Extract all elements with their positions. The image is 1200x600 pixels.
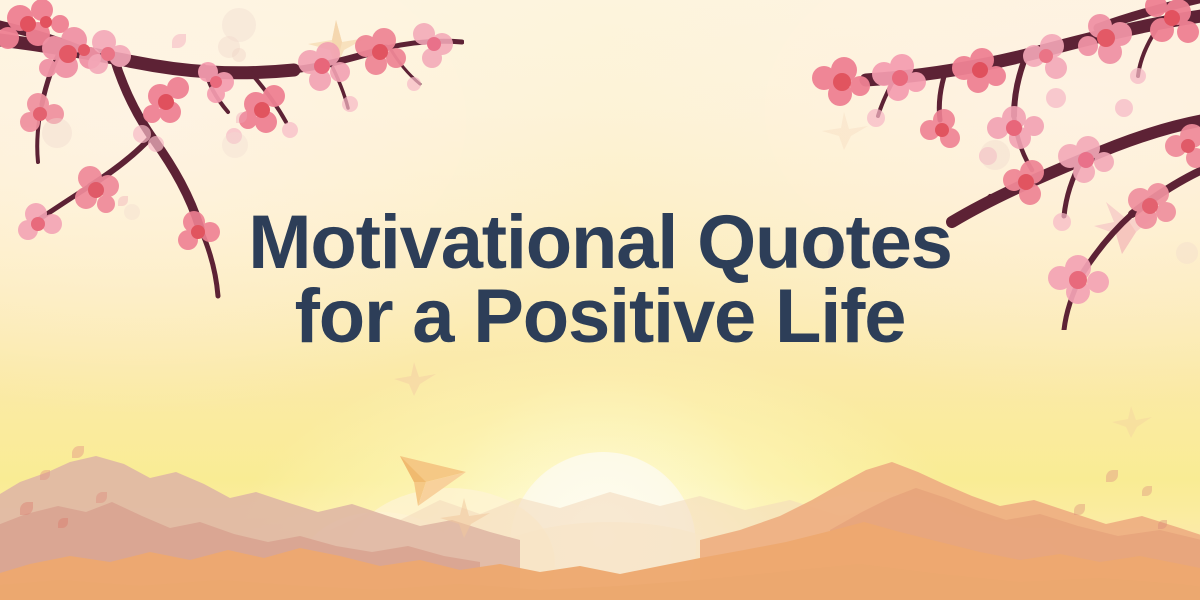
banner-title: Motivational Quotes for a Positive Life [0, 206, 1200, 353]
bokeh-dot [980, 140, 1010, 170]
bokeh-dot [222, 132, 248, 158]
motivational-quotes-banner: Motivational Quotes for a Positive Life [0, 0, 1200, 600]
origami-crane-icon [392, 360, 438, 398]
origami-crane-icon [1110, 404, 1154, 440]
title-line-1: Motivational Quotes [0, 206, 1200, 280]
origami-crane-icon [438, 496, 492, 540]
mountain-range [0, 380, 1200, 600]
bokeh-dot [42, 118, 72, 148]
title-line-2: for a Positive Life [0, 280, 1200, 354]
bokeh-dot [232, 48, 246, 62]
